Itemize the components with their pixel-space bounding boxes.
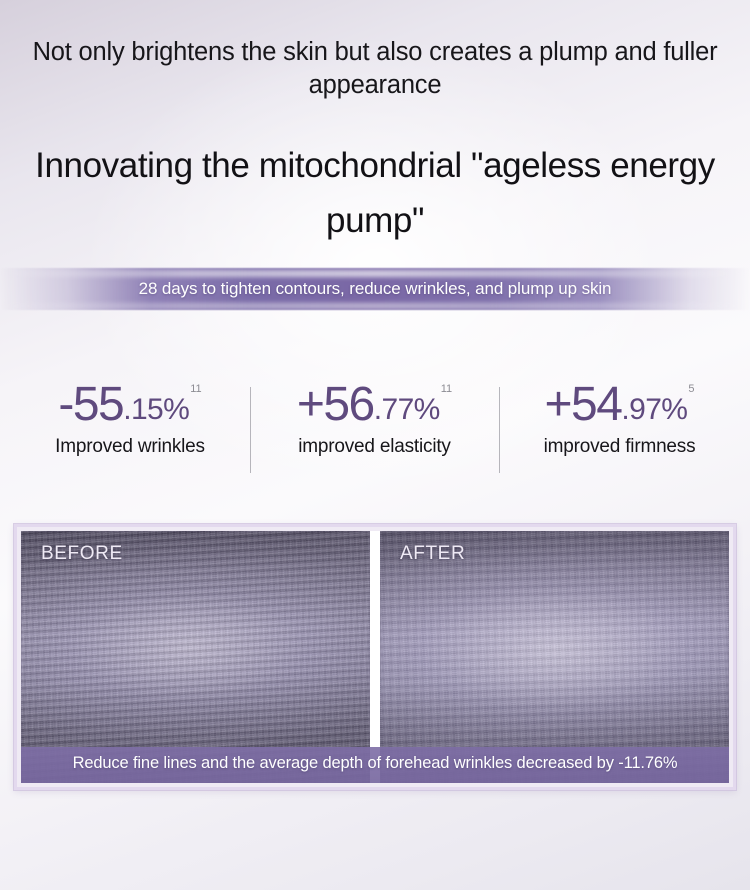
page-title: Innovating the mitochondrial "ageless en… bbox=[0, 138, 750, 248]
comparison-caption: Reduce fine lines and the average depth … bbox=[21, 747, 729, 783]
stat-value: +56 .77% 11 bbox=[297, 383, 452, 427]
banner-top-glow bbox=[0, 270, 750, 277]
stat-value-integer: -55 bbox=[58, 383, 123, 427]
statistics-row: -55 .15% 11 Improved wrinkles +56 .77% 1… bbox=[0, 383, 750, 475]
stat-footnote-marker: 11 bbox=[441, 384, 452, 395]
stat-improved-firmness: +54 .97% 5 improved firmness bbox=[500, 383, 740, 475]
banner-text: 28 days to tighten contours, reduce wrin… bbox=[139, 279, 612, 299]
stat-footnote-marker: 11 bbox=[190, 384, 201, 395]
stat-value-decimal: .97% bbox=[621, 395, 687, 427]
before-after-images: BEFORE AFTER bbox=[21, 531, 729, 783]
highlight-banner: 28 days to tighten contours, reduce wrin… bbox=[0, 268, 750, 310]
before-image: BEFORE bbox=[21, 531, 370, 783]
stat-value-integer: +56 bbox=[297, 383, 374, 427]
skin-texture-before bbox=[21, 531, 370, 783]
stat-value: +54 .97% 5 bbox=[544, 383, 694, 427]
stat-footnote-marker: 5 bbox=[688, 384, 694, 395]
stat-value-integer: +54 bbox=[544, 383, 621, 427]
subheading-text: Not only brightens the skin but also cre… bbox=[0, 36, 750, 102]
banner-bottom-glow bbox=[0, 303, 750, 309]
after-image: AFTER bbox=[380, 531, 729, 783]
skin-texture-after bbox=[380, 531, 729, 783]
promo-page: Not only brightens the skin but also cre… bbox=[0, 0, 750, 890]
stat-value: -55 .15% 11 bbox=[58, 383, 201, 427]
after-label: AFTER bbox=[400, 543, 465, 565]
before-label: BEFORE bbox=[41, 543, 123, 565]
stat-improved-elasticity: +56 .77% 11 improved elasticity bbox=[251, 383, 499, 475]
stat-value-decimal: .77% bbox=[374, 395, 440, 427]
stat-value-decimal: .15% bbox=[123, 395, 189, 427]
stat-label: improved firmness bbox=[544, 436, 696, 458]
before-after-panel: BEFORE AFTER Reduce fine lines and the a… bbox=[14, 524, 736, 790]
stat-improved-wrinkles: -55 .15% 11 Improved wrinkles bbox=[11, 383, 250, 475]
stat-label: improved elasticity bbox=[298, 436, 450, 458]
stat-label: Improved wrinkles bbox=[55, 436, 205, 458]
